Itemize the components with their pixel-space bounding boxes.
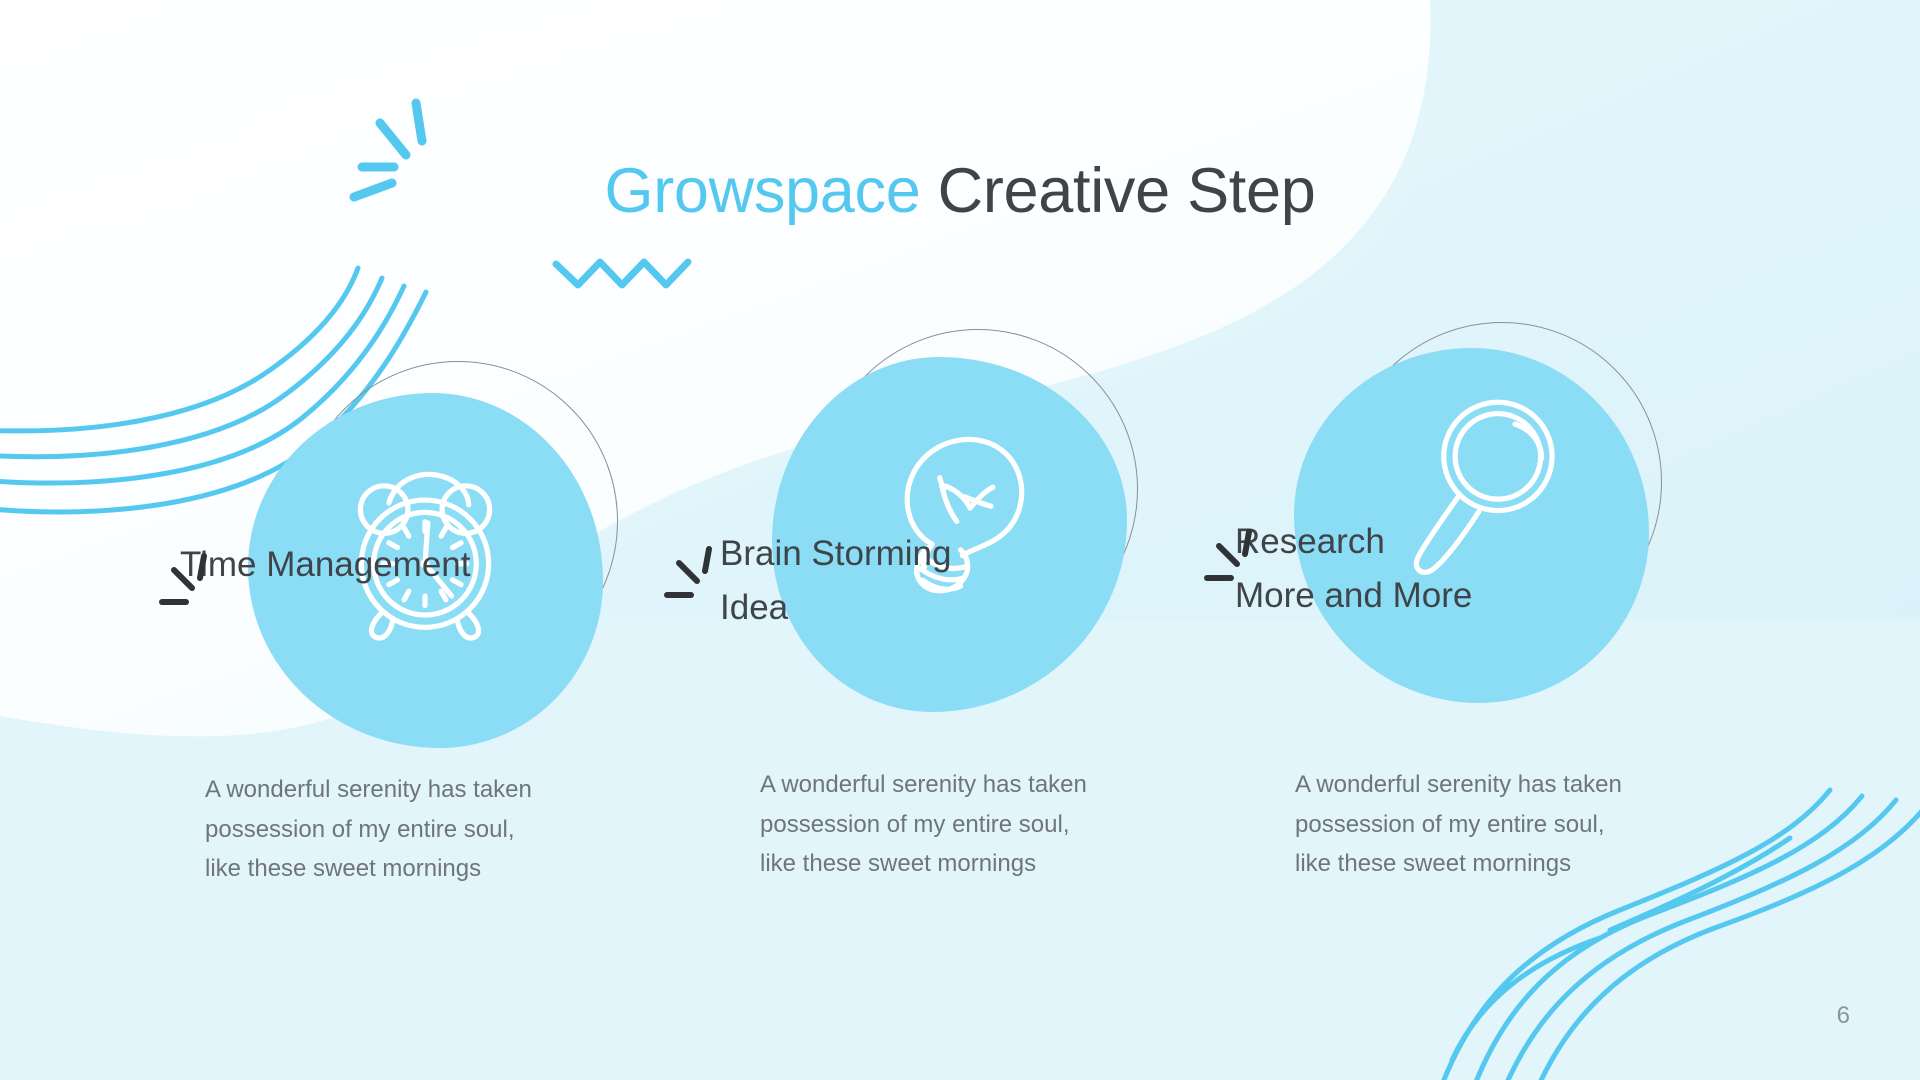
sparkle-burst-dark-icon xyxy=(1205,528,1265,588)
card-body-text: A wonderful serenity has taken possessio… xyxy=(205,770,532,889)
sparkle-burst-dark-icon xyxy=(665,545,725,605)
sparkle-burst-dark-icon xyxy=(160,552,220,612)
card-heading: Time Management xyxy=(180,538,471,592)
slide-canvas: Growspace Creative Step xyxy=(0,0,1920,1080)
card-heading: Brain Storming Idea xyxy=(720,527,951,636)
card-heading: Research More and More xyxy=(1235,515,1472,624)
page-number: 6 xyxy=(1837,1002,1850,1030)
card-body-text: A wonderful serenity has taken possessio… xyxy=(760,765,1087,884)
card-graphic xyxy=(1250,310,1650,710)
card-graphic xyxy=(740,315,1140,715)
card-body-text: A wonderful serenity has taken possessio… xyxy=(1295,765,1622,884)
